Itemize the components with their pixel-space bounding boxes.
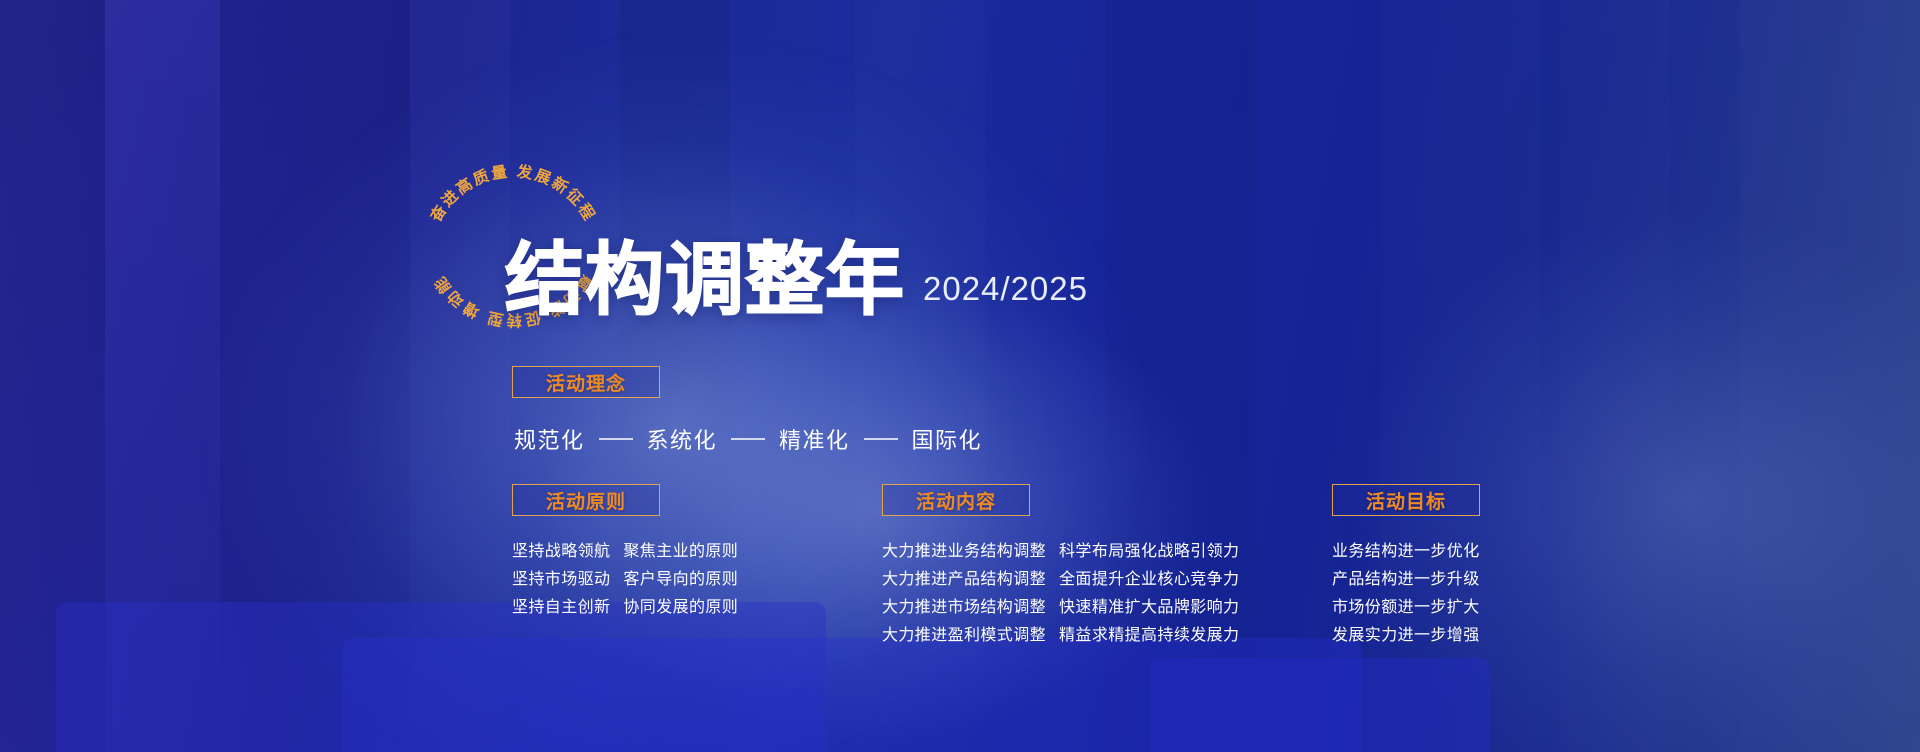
list-item: 坚持战略领航 聚焦主业的原则 [512, 538, 738, 565]
ring-arc-top-text: 奋进高质量 发展新征程 [425, 161, 599, 225]
keyword-item: 精准化 [777, 423, 852, 455]
keyword-divider [599, 438, 633, 440]
list-item: 业务结构进一步优化 [1332, 538, 1493, 565]
list-item: 坚持自主创新 协同发展的原则 [512, 594, 738, 621]
list-item: 大力推进市场结构调整 快速精准扩大品牌影响力 [882, 594, 1239, 621]
badge-activity-principle[interactable]: 活动原则 [512, 484, 660, 516]
row-left: 大力推进业务结构调整 [882, 538, 1046, 565]
column-principle: 坚持战略领航 聚焦主业的原则 坚持市场驱动 客户导向的原则 坚持自主创新 协同发… [512, 538, 738, 622]
keyword-divider [731, 438, 765, 440]
list-item: 市场份额进一步扩大 [1332, 594, 1493, 621]
row-left: 大力推进产品结构调整 [882, 566, 1046, 593]
row-right: 精益求精提高持续发展力 [1059, 622, 1239, 649]
column-goal: 业务结构进一步优化 产品结构进一步升级 市场份额进一步扩大 发展实力进一步增强 [1332, 538, 1493, 650]
row-right: 聚焦主业的原则 [623, 538, 738, 565]
headline-group: 结构调整年 2024/2025 [505, 244, 1088, 317]
row-left: 坚持自主创新 [512, 594, 610, 621]
row-right: 协同发展的原则 [623, 594, 738, 621]
badge-activity-idea[interactable]: 活动理念 [512, 366, 660, 398]
title-year: 2024/2025 [923, 270, 1088, 317]
row-left: 坚持市场驱动 [512, 566, 610, 593]
row-left: 产品结构进一步升级 [1332, 566, 1480, 593]
keyword-item: 系统化 [645, 423, 720, 455]
row-right: 快速精准扩大品牌影响力 [1059, 594, 1239, 621]
idea-keywords: 规范化 系统化 精准化 国际化 [512, 423, 984, 455]
row-left: 业务结构进一步优化 [1332, 538, 1480, 565]
row-right: 客户导向的原则 [623, 566, 738, 593]
banner-stage: 奋进高质量 发展新征程 赋动能 促转型 增动能 结构调整年 2024/2025 … [0, 0, 1920, 752]
page-title: 结构调整年 [505, 244, 905, 317]
row-right: 科学布局强化战略引领力 [1059, 538, 1239, 565]
row-left: 大力推进盈利模式调整 [882, 622, 1046, 649]
row-left: 大力推进市场结构调整 [882, 594, 1046, 621]
row-right: 全面提升企业核心竞争力 [1059, 566, 1239, 593]
keyword-item: 国际化 [910, 423, 985, 455]
list-item: 坚持市场驱动 客户导向的原则 [512, 566, 738, 593]
list-item: 大力推进盈利模式调整 精益求精提高持续发展力 [882, 622, 1239, 649]
badge-activity-content[interactable]: 活动内容 [882, 484, 1030, 516]
row-left: 市场份额进一步扩大 [1332, 594, 1480, 621]
row-left: 发展实力进一步增强 [1332, 622, 1480, 649]
badge-activity-goal[interactable]: 活动目标 [1332, 484, 1480, 516]
row-left: 坚持战略领航 [512, 538, 610, 565]
list-item: 大力推进业务结构调整 科学布局强化战略引领力 [882, 538, 1239, 565]
column-content: 大力推进业务结构调整 科学布局强化战略引领力 大力推进产品结构调整 全面提升企业… [882, 538, 1239, 650]
list-item: 大力推进产品结构调整 全面提升企业核心竞争力 [882, 566, 1239, 593]
keyword-item: 规范化 [512, 423, 587, 455]
keyword-divider [864, 438, 898, 440]
list-item: 发展实力进一步增强 [1332, 622, 1493, 649]
list-item: 产品结构进一步升级 [1332, 566, 1493, 593]
